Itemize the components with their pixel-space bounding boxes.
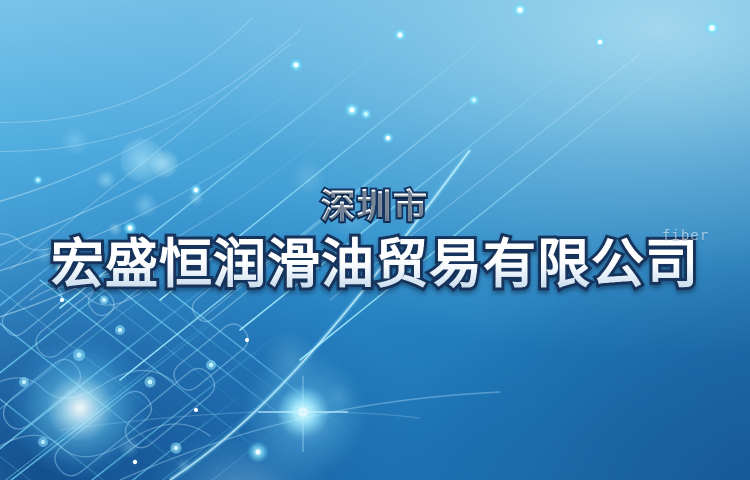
watermark-label: fiber <box>662 228 709 244</box>
city-line: 深圳市 <box>321 190 429 224</box>
headline-block: 深圳市 宏盛恒润滑油贸易有限公司 <box>0 0 750 480</box>
company-name-line: 宏盛恒润滑油贸易有限公司 <box>51 238 699 291</box>
banner-canvas: 深圳市 宏盛恒润滑油贸易有限公司 fiber <box>0 0 750 480</box>
